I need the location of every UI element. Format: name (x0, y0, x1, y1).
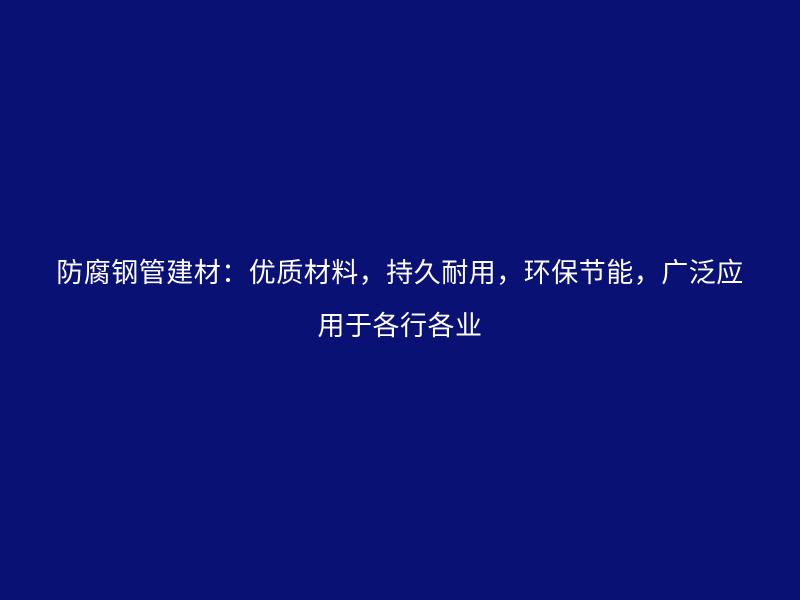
slide-caption-text: 防腐钢管建材：优质材料，持久耐用，环保节能，广泛应用于各行各业 (50, 247, 750, 353)
slide-canvas: 防腐钢管建材：优质材料，持久耐用，环保节能，广泛应用于各行各业 (0, 0, 800, 600)
